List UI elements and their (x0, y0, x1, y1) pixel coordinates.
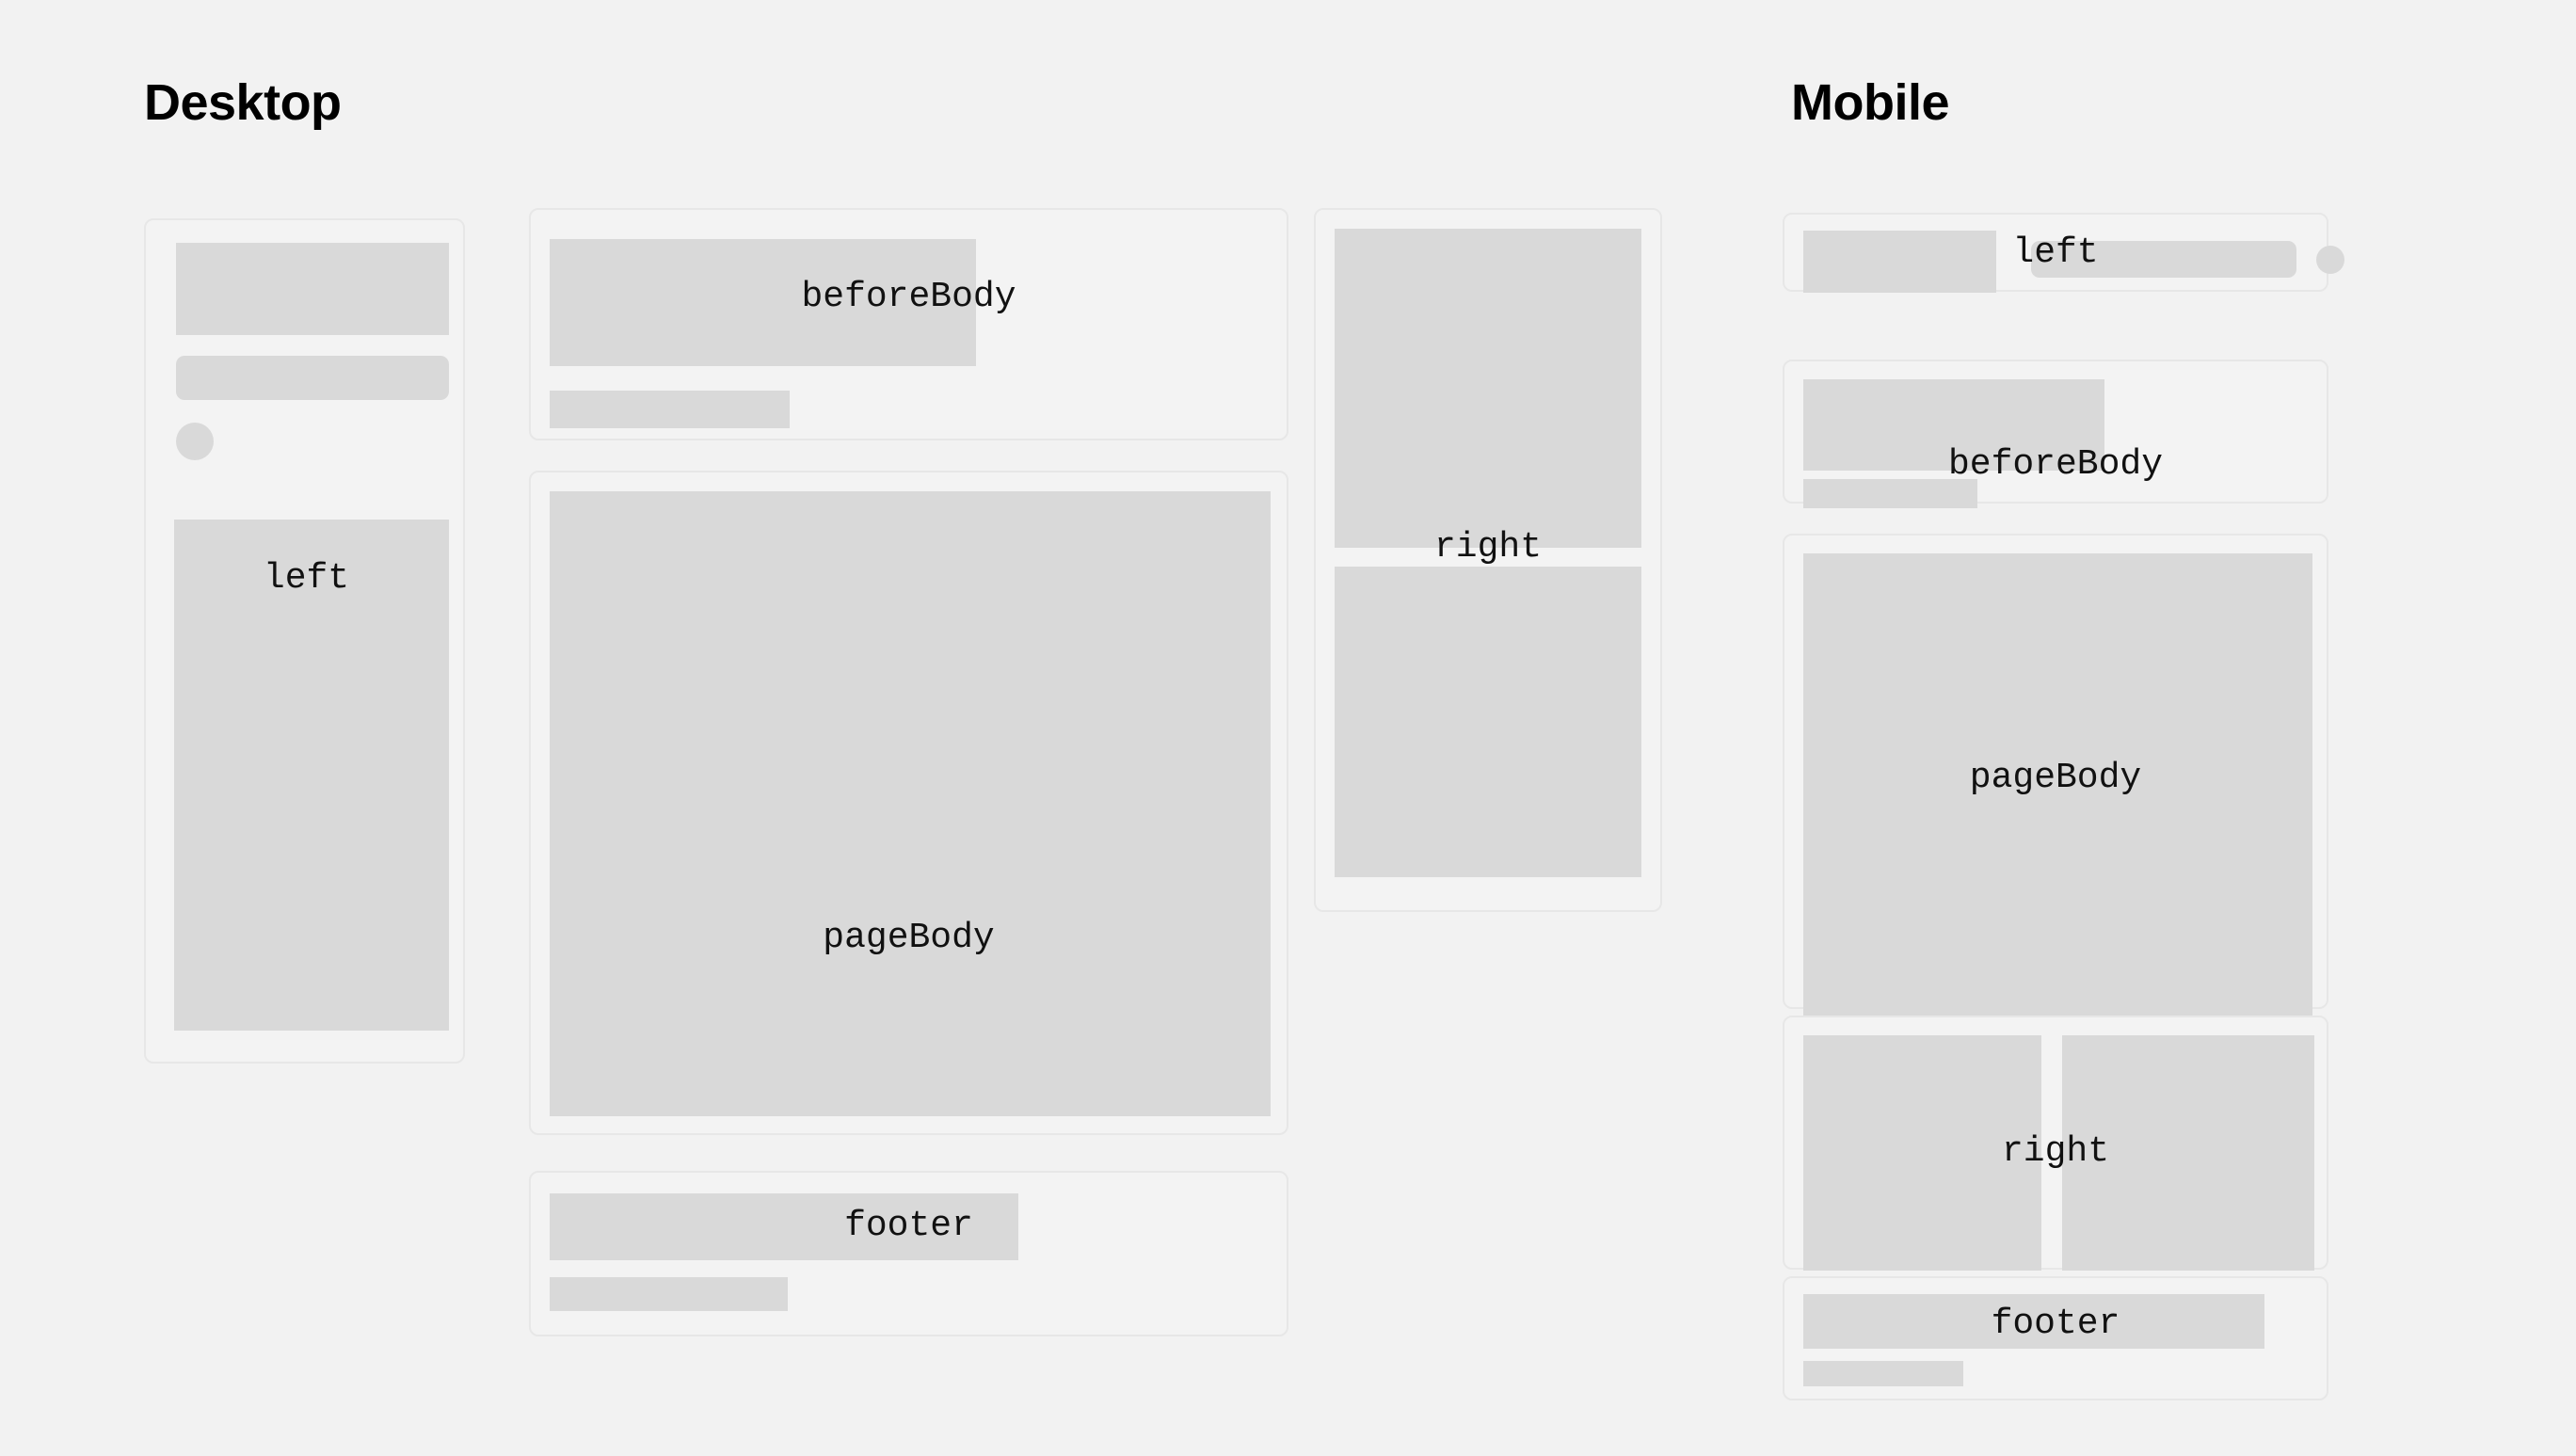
desktop-sidebar-placeholder-bar (176, 356, 449, 400)
desktop-footer-card (529, 1171, 1288, 1336)
desktop-left-sidebar-card: left (144, 218, 465, 1064)
desktop-page-body-placeholder-block (550, 491, 1271, 1116)
mobile-footer-card (1783, 1276, 2328, 1400)
desktop-footer-placeholder-bar (550, 1277, 788, 1311)
mobile-footer-placeholder-bar (1803, 1361, 1963, 1386)
mobile-page-body-card (1783, 534, 2328, 1009)
desktop-sidebar-placeholder-dot (176, 423, 214, 460)
desktop-before-body-placeholder-bar (550, 391, 790, 428)
mobile-right-card (1783, 1016, 2328, 1270)
desktop-right-placeholder-block-bottom (1335, 567, 1641, 877)
mobile-left-placeholder-bar (2031, 241, 2296, 278)
mobile-before-body-placeholder-block (1803, 379, 2104, 471)
mobile-before-body-card (1783, 360, 2328, 504)
desktop-sidebar-placeholder-block (176, 243, 449, 335)
desktop-footer-placeholder-block (550, 1193, 1018, 1260)
desktop-page-body-card (529, 471, 1288, 1135)
mobile-left-placeholder-dot (2316, 246, 2344, 274)
desktop-section-heading: Desktop (144, 77, 342, 128)
mobile-left-card (1783, 213, 2328, 292)
mobile-footer-placeholder-block (1803, 1294, 2264, 1349)
mobile-right-placeholder-block-right (2062, 1035, 2314, 1271)
desktop-left-slot-block (174, 520, 449, 1031)
mobile-right-placeholder-block-left (1803, 1035, 2041, 1271)
desktop-before-body-card (529, 208, 1288, 440)
mobile-section-heading: Mobile (1791, 77, 1949, 128)
wireframe-canvas: Desktop left beforeBody pageBody footer … (0, 0, 2576, 1456)
desktop-before-body-placeholder-block (550, 239, 976, 366)
mobile-before-body-placeholder-bar (1803, 479, 1977, 508)
desktop-right-placeholder-block-top (1335, 229, 1641, 548)
mobile-page-body-placeholder-block (1803, 553, 2312, 1025)
desktop-right-card (1314, 208, 1662, 912)
mobile-left-placeholder-block (1803, 231, 1996, 293)
